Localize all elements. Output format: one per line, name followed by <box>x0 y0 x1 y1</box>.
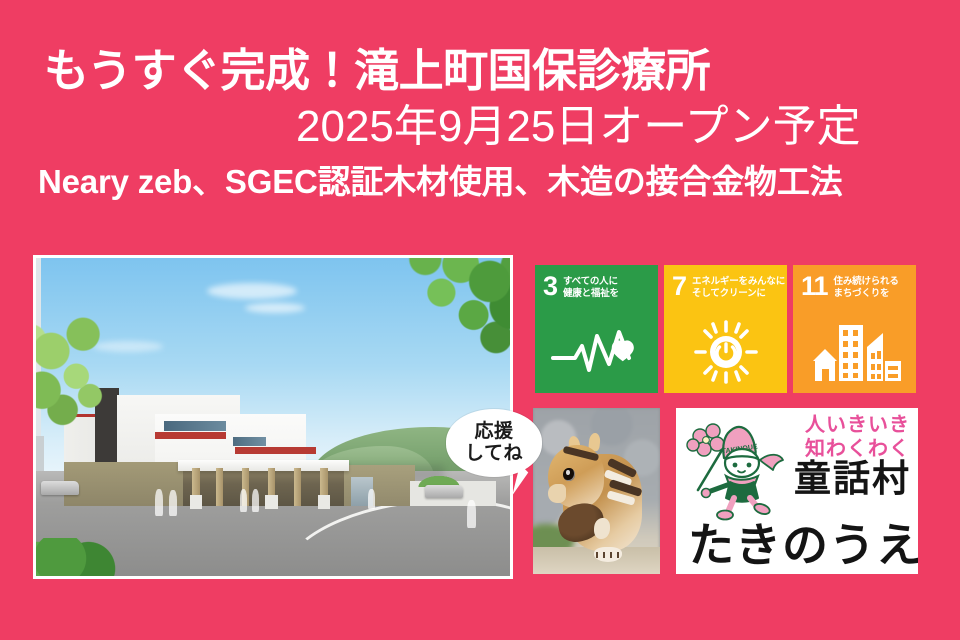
window <box>36 258 41 283</box>
canopy-column <box>294 468 301 506</box>
person-silhouette <box>252 489 260 513</box>
person-silhouette <box>155 489 163 516</box>
heartbeat-icon <box>535 319 658 385</box>
window-strip <box>233 437 266 445</box>
tree-foliage <box>36 309 131 449</box>
roof-accent <box>155 432 226 439</box>
headline-line-2: 2025年9月25日オープン予定 <box>0 101 960 154</box>
cloud-shape <box>207 283 297 299</box>
person-silhouette <box>169 490 177 515</box>
sdg-tile-11: 11 住み続けられる まちづくりを <box>793 265 916 393</box>
person-silhouette <box>240 489 248 513</box>
sdg-label: エネルギーをみんなに そしてクリーンに <box>692 274 785 300</box>
sdg-label-line-2: 健康と福祉を <box>563 288 619 299</box>
window-strip <box>164 421 226 431</box>
sdg-number: 3 <box>543 274 557 298</box>
tree-foliage <box>377 258 510 385</box>
headline-line-1: もうすぐ完成！滝上町国保診療所 <box>0 44 960 97</box>
sdg-tile-7: 7 エネルギーをみんなに そしてクリーンに <box>664 265 787 393</box>
window <box>36 283 41 308</box>
render-scene <box>36 258 510 576</box>
sdg-tile-header: 11 住み続けられる まちづくりを <box>793 265 916 300</box>
chipmunk-photo <box>533 408 660 574</box>
chipmunk-snout <box>548 484 566 502</box>
window <box>36 449 44 462</box>
sdg-label-line-1: 住み続けられる <box>834 276 899 287</box>
cityscape-icon <box>793 319 916 385</box>
building-render-photo <box>33 255 513 579</box>
sun-power-icon <box>664 319 787 385</box>
sdg-label-line-2: まちづくりを <box>834 288 890 299</box>
person-silhouette <box>368 489 375 510</box>
sdg-label-line-2: そしてクリーンに <box>692 288 766 299</box>
takinoue-town-logo: TAKINOUE <box>676 408 918 574</box>
column-base <box>318 495 330 509</box>
headline-block: もうすぐ完成！滝上町国保診療所 2025年9月25日オープン予定 Neary z… <box>0 44 960 201</box>
bush-shape <box>36 538 117 576</box>
logo-tagline: 人いきいき 知わくわく <box>805 414 910 461</box>
sdg-label: すべての人に 健康と福祉を <box>563 274 619 300</box>
sdg-tile-header: 7 エネルギーをみんなに そしてクリーンに <box>664 265 787 300</box>
logo-title-large: たきのうえ <box>688 522 918 568</box>
roof-accent <box>235 447 316 454</box>
parked-car <box>425 485 463 498</box>
sdg-label-line-1: すべての人に <box>563 276 618 287</box>
sdg-label-line-1: エネルギーをみんなに <box>692 276 785 287</box>
speech-bubble: 応援 してね <box>446 409 542 477</box>
headline-line-3: Neary zeb、SGEC認証木材使用、木造の接合金物工法 <box>0 162 960 202</box>
poster-canvas: もうすぐ完成！滝上町国保診療所 2025年9月25日オープン予定 Neary z… <box>0 0 960 640</box>
sdg-tile-3: 3 すべての人に 健康と福祉を <box>535 265 658 393</box>
takinoue-fairy-mascot-icon: TAKINOUE <box>684 418 792 522</box>
sdg-label: 住み続けられる まちづくりを <box>834 274 899 300</box>
logo-tagline-line-1: 人いきいき <box>805 414 910 438</box>
chipmunk-eye <box>563 468 574 481</box>
speech-bubble-tail <box>512 464 529 497</box>
sdg-goal-row: 3 すべての人に 健康と福祉を 7 エネルギーをみんなに そしてクリーンに <box>535 265 916 393</box>
cloud-shape <box>245 303 305 313</box>
logo-title-small: 童話村 <box>794 460 911 497</box>
sdg-tile-header: 3 すべての人に 健康と福祉を <box>535 265 658 300</box>
column-base <box>190 495 202 509</box>
sdg-number: 11 <box>801 274 828 298</box>
speech-bubble-text: 応援 してね <box>465 421 523 466</box>
person-silhouette <box>467 500 476 529</box>
speech-bubble-line-1: 応援 <box>474 421 513 442</box>
canopy-column <box>216 468 223 506</box>
column-base <box>265 495 277 509</box>
sdg-number: 7 <box>672 274 686 298</box>
parked-car <box>41 481 79 495</box>
speech-bubble-line-2: してね <box>465 443 523 464</box>
